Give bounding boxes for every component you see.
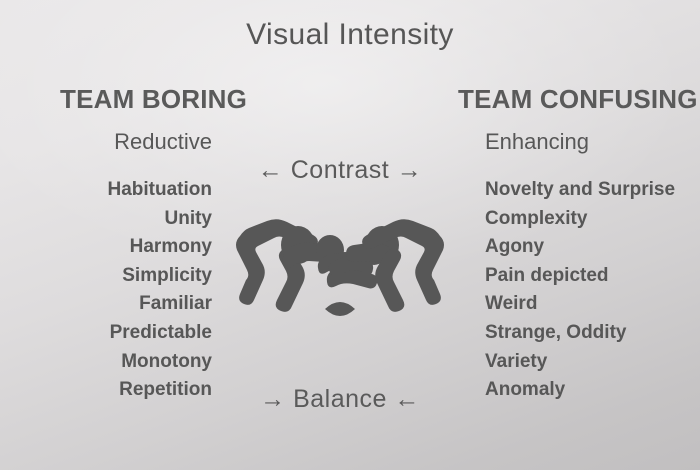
left-team-heading: TEAM BORING xyxy=(60,84,247,115)
scrum-silhouette-illustration xyxy=(230,214,450,326)
contrast-axis-label: ← Contrast → xyxy=(230,156,450,185)
list-item: Harmony xyxy=(0,233,212,262)
list-item: Predictable xyxy=(0,319,212,348)
list-item: Novelty and Surprise xyxy=(485,176,675,205)
left-lead-term: Reductive xyxy=(0,129,212,155)
visual-intensity-infographic: Visual Intensity TEAM BORING TEAM CONFUS… xyxy=(0,0,700,470)
arrow-right-icon: → xyxy=(397,156,423,185)
list-item: Anomaly xyxy=(485,376,675,405)
list-item: Weird xyxy=(485,290,675,319)
list-item: Familiar xyxy=(0,290,212,319)
list-item: Strange, Oddity xyxy=(485,319,675,348)
contrast-label: Contrast xyxy=(291,156,389,184)
list-item: Variety xyxy=(485,348,675,377)
left-term-list: Habituation Unity Harmony Simplicity Fam… xyxy=(0,176,212,405)
list-item: Agony xyxy=(485,233,675,262)
balance-axis-label: → Balance ← xyxy=(230,385,450,414)
list-item: Pain depicted xyxy=(485,262,675,291)
list-item: Habituation xyxy=(0,176,212,205)
list-item: Repetition xyxy=(0,376,212,405)
right-team-heading: TEAM CONFUSING xyxy=(458,84,698,115)
arrow-left-icon: ← xyxy=(394,385,420,414)
list-item: Complexity xyxy=(485,205,675,234)
arrow-right-icon: → xyxy=(260,385,286,414)
right-lead-term: Enhancing xyxy=(485,129,589,155)
arrow-left-icon: ← xyxy=(258,156,284,185)
list-item: Unity xyxy=(0,205,212,234)
balance-label: Balance xyxy=(293,385,387,413)
right-term-list: Novelty and Surprise Complexity Agony Pa… xyxy=(485,176,675,405)
list-item: Simplicity xyxy=(0,262,212,291)
list-item: Monotony xyxy=(0,348,212,377)
page-title: Visual Intensity xyxy=(0,18,700,52)
